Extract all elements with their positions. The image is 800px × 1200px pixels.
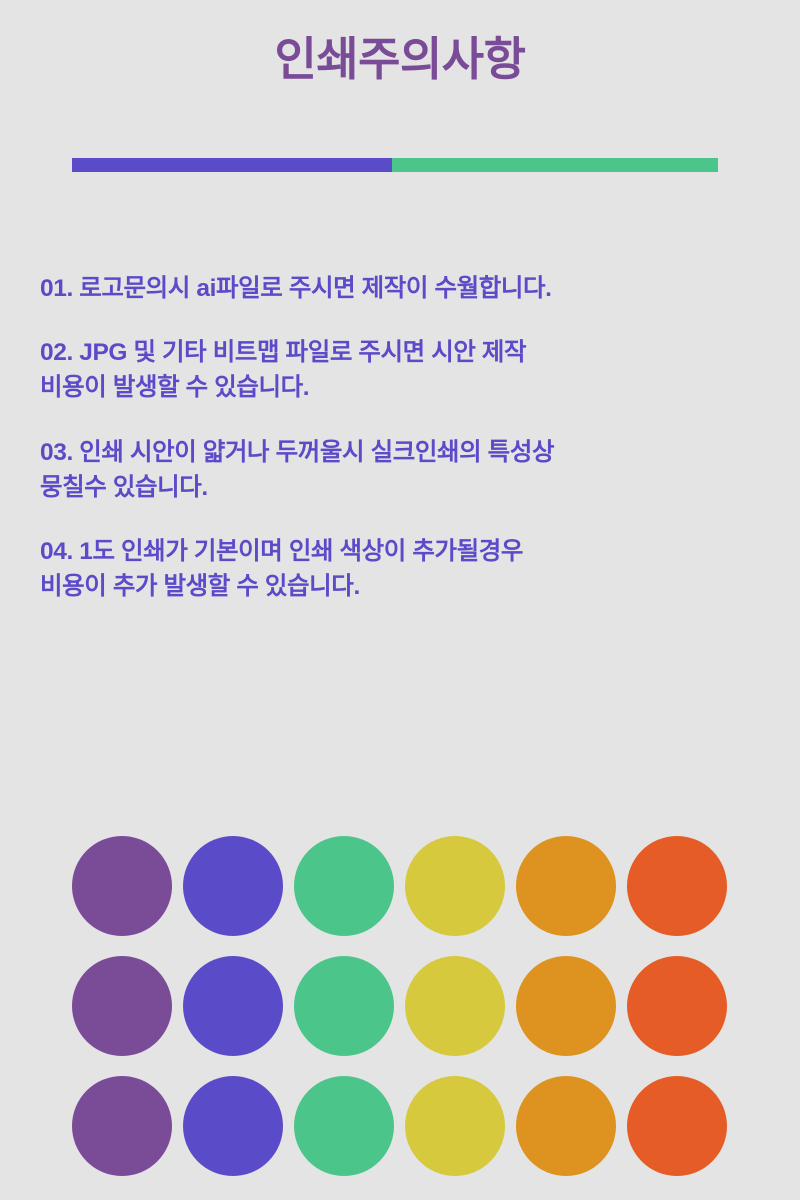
color-swatch-orange[interactable]	[516, 956, 616, 1056]
divider-bar	[72, 158, 718, 172]
color-swatch-green[interactable]	[294, 836, 394, 936]
color-swatch-red-orange[interactable]	[627, 1076, 727, 1176]
notice-item-02: 02. JPG 및 기타 비트맵 파일로 주시면 시안 제작 비용이 발생할 수…	[40, 336, 766, 406]
color-swatch-purple[interactable]	[72, 956, 172, 1056]
notice-item-04: 04. 1도 인쇄가 기본이며 인쇄 색상이 추가될경우 비용이 추가 발생할 …	[40, 535, 766, 605]
color-swatch-grid	[72, 836, 728, 1176]
color-swatch-yellow[interactable]	[405, 956, 505, 1056]
print-notice-page: 인쇄주의사항 01. 로고문의시 ai파일로 주시면 제작이 수월합니다. 02…	[0, 0, 800, 1200]
page-title: 인쇄주의사항	[275, 36, 526, 82]
divider-segment-purple	[72, 158, 392, 172]
notice-item-01: 01. 로고문의시 ai파일로 주시면 제작이 수월합니다.	[40, 272, 766, 307]
color-swatch-green[interactable]	[294, 956, 394, 1056]
color-swatch-orange[interactable]	[516, 836, 616, 936]
color-swatch-red-orange[interactable]	[627, 956, 727, 1056]
color-swatch-green[interactable]	[294, 1076, 394, 1176]
swatch-row	[72, 1076, 728, 1176]
notice-list: 01. 로고문의시 ai파일로 주시면 제작이 수월합니다. 02. JPG 및…	[40, 247, 766, 605]
color-swatch-yellow[interactable]	[405, 1076, 505, 1176]
color-swatch-yellow[interactable]	[405, 836, 505, 936]
page-header: 인쇄주의사항	[0, 0, 800, 118]
swatch-row	[72, 836, 728, 936]
color-swatch-red-orange[interactable]	[627, 836, 727, 936]
divider-segment-green	[392, 158, 718, 172]
notice-item-03: 03. 인쇄 시안이 얇거나 두꺼울시 실크인쇄의 특성상 뭉칠수 있습니다.	[40, 436, 766, 506]
color-swatch-blue-violet[interactable]	[183, 1076, 283, 1176]
color-swatch-blue-violet[interactable]	[183, 836, 283, 936]
color-swatch-blue-violet[interactable]	[183, 956, 283, 1056]
color-swatch-orange[interactable]	[516, 1076, 616, 1176]
color-swatch-purple[interactable]	[72, 1076, 172, 1176]
swatch-row	[72, 956, 728, 1056]
color-swatch-purple[interactable]	[72, 836, 172, 936]
